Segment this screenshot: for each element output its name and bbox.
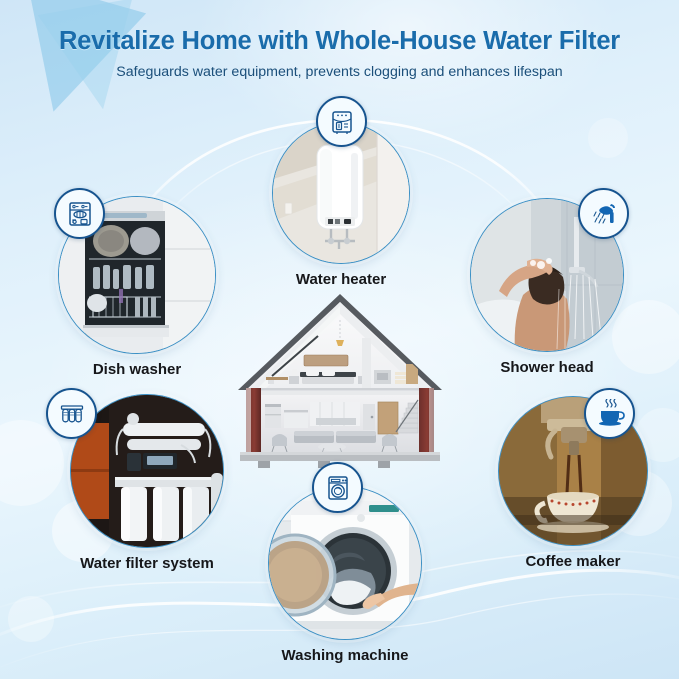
page-subtitle: Safeguards water equipment, prevents clo… xyxy=(0,56,679,80)
water-filter-icon xyxy=(46,388,97,439)
shower-head-label: Shower head xyxy=(470,359,624,376)
header: Revitalize Home with Whole-House Water F… xyxy=(0,0,679,80)
bokeh-circle xyxy=(588,118,628,158)
node-water-filter-system[interactable]: Water filter system xyxy=(70,394,224,572)
infographic-canvas: Revitalize Home with Whole-House Water F… xyxy=(0,0,679,679)
node-dish-washer[interactable]: Dish washer xyxy=(58,196,216,378)
node-shower-head[interactable]: Shower head xyxy=(470,198,624,376)
house-cutaway-illustration xyxy=(232,292,448,478)
dishwasher-icon xyxy=(54,188,105,239)
dish-washer-label: Dish washer xyxy=(58,361,216,378)
water-filter-system-label: Water filter system xyxy=(70,555,224,572)
water-heater-label: Water heater xyxy=(272,271,410,288)
page-title: Revitalize Home with Whole-House Water F… xyxy=(0,0,679,56)
coffee-cup-icon xyxy=(584,388,635,439)
node-coffee-maker[interactable]: Coffee maker xyxy=(498,396,648,570)
washing-machine-label: Washing machine xyxy=(268,647,422,664)
coffee-maker-label: Coffee maker xyxy=(498,553,648,570)
bokeh-circle xyxy=(8,596,54,642)
node-washing-machine[interactable]: Washing machine xyxy=(268,486,422,664)
washing-machine-icon xyxy=(312,462,363,513)
shower-head-icon xyxy=(578,188,629,239)
node-water-heater[interactable]: Water heater xyxy=(272,122,410,288)
water-heater-icon xyxy=(316,96,367,147)
